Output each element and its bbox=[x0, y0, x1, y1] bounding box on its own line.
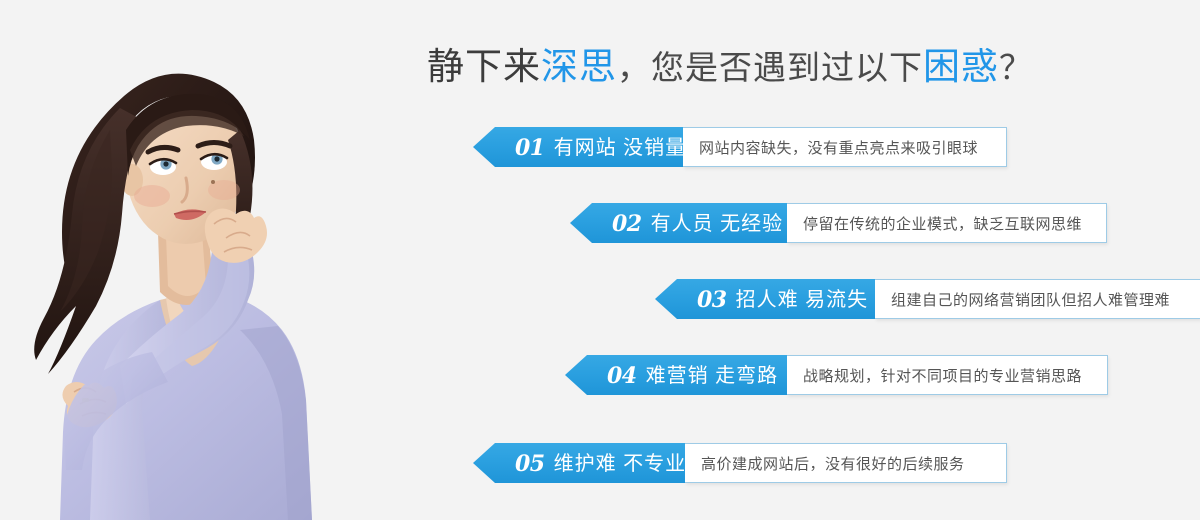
pain-point-description: 网站内容缺失，没有重点亮点来吸引眼球 bbox=[683, 127, 1007, 167]
pain-point-row[interactable]: 05维护难 不专业高价建成网站后，没有很好的后续服务 bbox=[473, 443, 1007, 483]
pain-point-arrow-label[interactable]: 03招人难 易流失 bbox=[655, 279, 875, 319]
pain-point-description: 高价建成网站后，没有很好的后续服务 bbox=[685, 443, 1007, 483]
pain-point-number: 05 bbox=[515, 453, 545, 475]
pain-point-number: 01 bbox=[515, 137, 545, 159]
pain-point-arrow-label[interactable]: 04难营销 走弯路 bbox=[565, 355, 787, 395]
thinking-woman-illustration bbox=[0, 0, 360, 520]
pain-point-arrow-label[interactable]: 02有人员 无经验 bbox=[570, 203, 787, 243]
pain-point-description: 停留在传统的企业模式，缺乏互联网思维 bbox=[787, 203, 1107, 243]
title-part-3: ？ bbox=[999, 49, 1033, 86]
pain-point-number: 02 bbox=[612, 213, 642, 235]
title-part-2: ，您是否遇到过以下 bbox=[617, 49, 923, 86]
pain-point-number: 03 bbox=[697, 289, 727, 311]
pain-point-title: 维护难 不专业 bbox=[554, 454, 687, 474]
page-title: 静下来深思，您是否遇到过以下困惑？ bbox=[380, 40, 1080, 94]
pain-point-description: 战略规划，针对不同项目的专业营销思路 bbox=[787, 355, 1108, 395]
pain-point-row[interactable]: 04难营销 走弯路战略规划，针对不同项目的专业营销思路 bbox=[565, 355, 1108, 395]
title-highlight-2: 困惑 bbox=[923, 46, 999, 87]
pain-point-row[interactable]: 01有网站 没销量网站内容缺失，没有重点亮点来吸引眼球 bbox=[473, 127, 1007, 167]
title-highlight-1: 深思 bbox=[541, 46, 617, 87]
pain-point-row[interactable]: 03招人难 易流失组建自己的网络营销团队但招人难管理难 bbox=[655, 279, 1200, 319]
pain-point-arrow-label[interactable]: 05维护难 不专业 bbox=[473, 443, 685, 483]
pain-point-title: 有网站 没销量 bbox=[554, 138, 687, 158]
pain-point-description: 组建自己的网络营销团队但招人难管理难 bbox=[875, 279, 1200, 319]
hero-image bbox=[0, 0, 360, 520]
pain-point-number: 04 bbox=[607, 365, 637, 387]
pain-point-arrow-label[interactable]: 01有网站 没销量 bbox=[473, 127, 683, 167]
pain-point-title: 招人难 易流失 bbox=[736, 290, 869, 310]
banner-stage: 静下来深思，您是否遇到过以下困惑？ 01有网站 没销量网站内容缺失，没有重点亮点… bbox=[0, 0, 1200, 520]
pain-point-title: 有人员 无经验 bbox=[651, 214, 784, 234]
pain-point-row[interactable]: 02有人员 无经验停留在传统的企业模式，缺乏互联网思维 bbox=[570, 203, 1107, 243]
title-part-1: 静下来 bbox=[427, 46, 541, 87]
pain-point-title: 难营销 走弯路 bbox=[646, 366, 779, 386]
